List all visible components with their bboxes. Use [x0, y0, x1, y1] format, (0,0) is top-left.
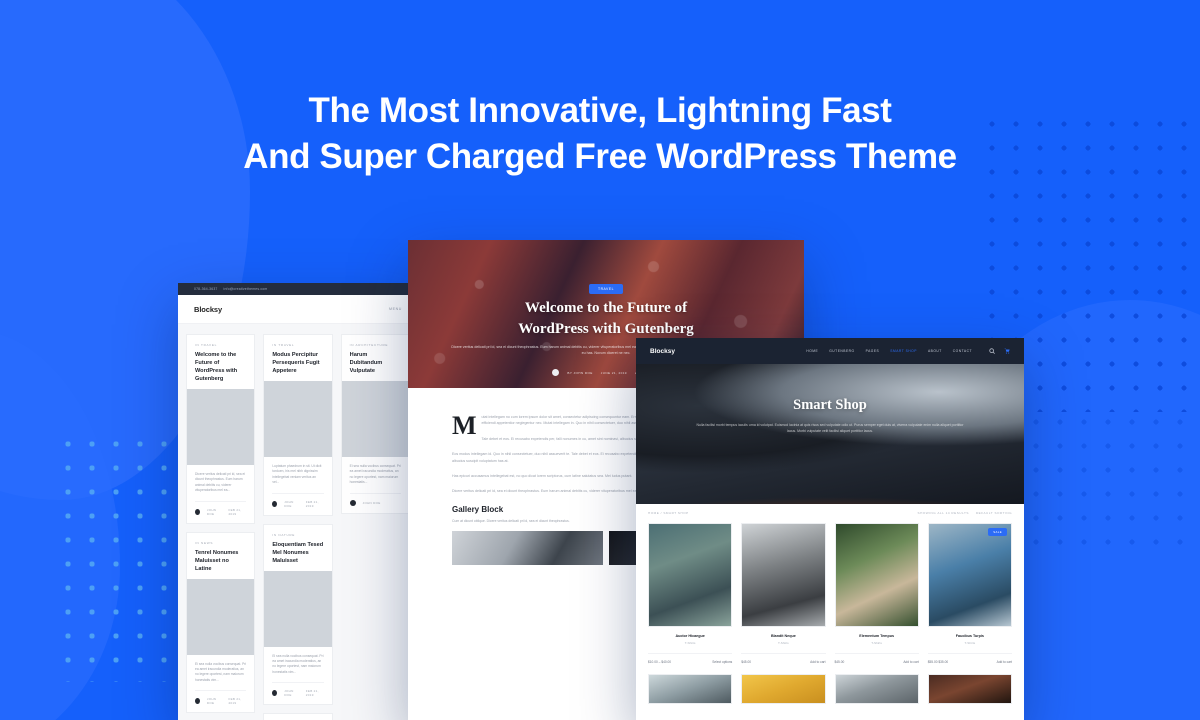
- product-image: [741, 523, 825, 627]
- product-image: [835, 523, 919, 627]
- nav-item-pages[interactable]: PAGES: [866, 349, 880, 353]
- product-image[interactable]: [648, 674, 732, 704]
- product-price: $45.00: [741, 660, 751, 664]
- blog-card[interactable]: IN TRAVEL Modus Percipitur Persequeris F…: [263, 334, 332, 516]
- shop-hero-subtitle: Nulla facilisi morbi tempus iaculis urna…: [692, 422, 968, 434]
- hero-title-line-2: WordPress with Gutenberg: [408, 319, 804, 340]
- left-mock-topbar: 078-364-3637 info@creativethemes.com: [178, 283, 418, 295]
- search-icon[interactable]: [989, 348, 995, 354]
- meta-date: JUNE 21, 2019: [601, 371, 627, 375]
- nav-item-contact[interactable]: CONTACT: [953, 349, 972, 353]
- card-excerpt: Ei sea nulla vocibus consequat. Pri ea a…: [272, 654, 323, 676]
- shop-hero: Smart Shop Nulla facilisi morbi tempus i…: [636, 364, 1024, 504]
- card-category: IN TRAVEL: [272, 343, 323, 347]
- product-price: $55.00 $35.00: [928, 660, 948, 664]
- card-thumbnail: [187, 389, 254, 465]
- smart-shop-mockup-window[interactable]: Blocksy HOME GUTENBERG PAGES SMART SHOP …: [636, 338, 1024, 720]
- product-card[interactable]: Blandit Neque T-Shirts $45.00 Add to car…: [741, 523, 825, 664]
- dot-grid-right-lower: [1000, 410, 1200, 560]
- nav-item-home[interactable]: HOME: [806, 349, 818, 353]
- product-category: T-Shirts: [928, 641, 1012, 645]
- product-image: [928, 523, 1012, 627]
- card-author: JOHN DOE: [207, 697, 222, 705]
- hero-title: Welcome to the Future of WordPress with …: [408, 298, 804, 340]
- left-mock-header: Blocksy MENU: [178, 295, 418, 324]
- blog-card[interactable]: IN ARCHITECTURE: [263, 713, 332, 720]
- card-category: IN ARCHITECTURE: [350, 343, 401, 347]
- product-footer: $10.00 – $40.00 Select options: [648, 653, 732, 664]
- blog-column-1: IN TRAVEL Welcome to the Future of WordP…: [186, 334, 255, 720]
- avatar-icon: [552, 369, 559, 376]
- card-title[interactable]: Harum Dubitandum Vulputate: [350, 351, 401, 375]
- cart-icon[interactable]: [1004, 348, 1010, 354]
- product-price: $10.00 – $40.00: [648, 660, 671, 664]
- avatar-icon: [272, 501, 277, 507]
- shop-logo[interactable]: Blocksy: [650, 348, 675, 355]
- card-title[interactable]: Modus Percipitur Persequeris Fugit Appet…: [272, 351, 323, 375]
- hero-title-line-1: Welcome to the Future of: [408, 298, 804, 319]
- avatar-icon: [195, 509, 200, 515]
- shop-nav-links: HOME GUTENBERG PAGES SMART SHOP ABOUT CO…: [806, 348, 1010, 354]
- card-author: JOHN DOE: [207, 508, 222, 516]
- card-excerpt: Luptatum phaedrum in sit. Ut dicit tordu…: [272, 464, 323, 486]
- product-name[interactable]: Blandit Neque: [741, 634, 825, 638]
- product-footer: $45.00 Add to cart: [741, 653, 825, 664]
- blog-card[interactable]: IN TRAVEL Welcome to the Future of WordP…: [186, 334, 255, 524]
- card-meta: JOHN DOE FEB 21, 2019: [272, 493, 323, 508]
- product-footer: $45.00 Add to cart: [835, 653, 919, 664]
- product-category: T-Shirts: [648, 641, 732, 645]
- card-author: JOHN DOE: [284, 689, 299, 697]
- product-name[interactable]: Auctor Hicaegue: [648, 634, 732, 638]
- card-excerpt: Dicere veritus delicati pri id, sea ei d…: [195, 472, 246, 494]
- product-action[interactable]: Select options: [712, 660, 732, 664]
- shop-toolbar-right: SHOWING ALL 14 RESULTS DEFAULT SORTING: [918, 511, 1012, 515]
- left-mock-menu-toggle[interactable]: MENU: [389, 307, 402, 311]
- card-author: JOHN DOE: [284, 500, 299, 508]
- blog-card[interactable]: IN NATURE Eloquentiam Tesed Mel Nonumes …: [263, 524, 332, 706]
- product-action[interactable]: Add to cart: [810, 660, 825, 664]
- product-action[interactable]: Add to cart: [997, 660, 1012, 664]
- card-thumbnail: [264, 571, 331, 647]
- card-meta: JOHN DOE FEB 21, 2019: [195, 501, 246, 516]
- product-grid-row-2: [648, 674, 1012, 704]
- topbar-email: info@creativethemes.com: [224, 287, 268, 291]
- blog-card[interactable]: IN ARCHITECTURE Harum Dubitandum Vulputa…: [341, 334, 410, 514]
- gallery-image: [452, 531, 603, 565]
- sorting-select[interactable]: DEFAULT SORTING: [976, 511, 1012, 515]
- card-thumbnail: [187, 579, 254, 655]
- nav-item-smart-shop[interactable]: SMART SHOP: [890, 349, 917, 353]
- card-date: FEB 21, 2019: [228, 697, 246, 705]
- topbar-phone: 078-364-3637: [194, 287, 218, 291]
- product-name[interactable]: Faucibus Turpis: [928, 634, 1012, 638]
- shop-product-area: HOME / SMART SHOP SHOWING ALL 14 RESULTS…: [636, 504, 1024, 704]
- card-title[interactable]: Eloquentiam Tesed Mel Nonumes Maluisset: [272, 541, 323, 565]
- shop-navbar: Blocksy HOME GUTENBERG PAGES SMART SHOP …: [636, 338, 1024, 364]
- blog-mockup-window[interactable]: 078-364-3637 info@creativethemes.com Blo…: [178, 283, 418, 720]
- page-headline: The Most Innovative, Lightning Fast And …: [0, 88, 1200, 180]
- headline-line-1: The Most Innovative, Lightning Fast: [309, 91, 892, 130]
- product-category: T-Shirts: [741, 641, 825, 645]
- card-date: FEB 21, 2019: [228, 508, 246, 516]
- card-meta: JOHN DOE: [350, 493, 401, 506]
- card-meta: JOHN DOE FEB 21, 2019: [272, 682, 323, 697]
- dot-grid-left: [56, 432, 186, 682]
- avatar-icon: [272, 690, 277, 696]
- card-category: IN NEWS: [195, 541, 246, 545]
- meta-author: BY JOHN DOE: [567, 371, 592, 375]
- card-thumbnail: [342, 381, 409, 457]
- shop-nav-icons: [989, 348, 1010, 354]
- card-author: JOHN DOE: [363, 501, 381, 505]
- product-card[interactable]: SALE Faucibus Turpis T-Shirts $55.00 $35…: [928, 523, 1012, 664]
- shop-hero-title: Smart Shop: [636, 397, 1024, 414]
- product-card[interactable]: Elementum Tempus T-Shirts $45.00 Add to …: [835, 523, 919, 664]
- card-date: FEB 21, 2019: [306, 500, 324, 508]
- avatar-icon: [350, 500, 356, 506]
- results-count: SHOWING ALL 14 RESULTS: [918, 511, 969, 515]
- blog-column-3: IN ARCHITECTURE Harum Dubitandum Vulputa…: [341, 334, 410, 720]
- blog-card[interactable]: IN NEWS Tenrel Nonumes Maluisset no Lati…: [186, 532, 255, 714]
- shop-toolbar: HOME / SMART SHOP SHOWING ALL 14 RESULTS…: [648, 511, 1012, 515]
- card-date: FEB 21, 2019: [306, 689, 324, 697]
- product-name[interactable]: Elementum Tempus: [835, 634, 919, 638]
- blog-column-2: IN TRAVEL Modus Percipitur Persequeris F…: [263, 334, 332, 720]
- product-action[interactable]: Add to cart: [903, 660, 918, 664]
- card-category: IN TRAVEL: [195, 343, 246, 347]
- card-title[interactable]: Welcome to the Future of WordPress with …: [195, 351, 246, 383]
- card-meta: JOHN DOE FEB 21, 2019: [195, 690, 246, 705]
- product-image: [648, 523, 732, 627]
- headline-line-2: And Super Charged Free WordPress Theme: [0, 134, 1200, 180]
- avatar-icon: [195, 698, 200, 704]
- card-thumbnail: [264, 381, 331, 457]
- hero-category-button[interactable]: TRAVEL: [589, 284, 623, 294]
- product-image[interactable]: [928, 674, 1012, 704]
- product-grid: Auctor Hicaegue T-Shirts $10.00 – $40.00…: [648, 523, 1012, 664]
- product-category: T-Shirts: [835, 641, 919, 645]
- sale-badge: SALE: [988, 528, 1007, 536]
- card-excerpt: Ei sea nulla vocibus consequat. Pri ea a…: [195, 662, 246, 684]
- product-card[interactable]: Auctor Hicaegue T-Shirts $10.00 – $40.00…: [648, 523, 732, 664]
- left-mock-logo[interactable]: Blocksy: [194, 305, 222, 314]
- card-title[interactable]: Tenrel Nonumes Maluisset no Latine: [195, 549, 246, 573]
- breadcrumb: HOME / SMART SHOP: [648, 511, 689, 515]
- product-footer: $55.00 $35.00 Add to cart: [928, 653, 1012, 664]
- nav-item-about[interactable]: ABOUT: [928, 349, 942, 353]
- card-category: IN NATURE: [272, 533, 323, 537]
- product-image[interactable]: [741, 674, 825, 704]
- product-price: $45.00: [835, 660, 845, 664]
- nav-item-gutenberg[interactable]: GUTENBERG: [829, 349, 854, 353]
- left-mock-blog-grid: IN TRAVEL Welcome to the Future of WordP…: [178, 324, 418, 720]
- card-excerpt: Ei sea nulla vocibus consequat. Pri ea a…: [350, 464, 401, 486]
- product-image[interactable]: [835, 674, 919, 704]
